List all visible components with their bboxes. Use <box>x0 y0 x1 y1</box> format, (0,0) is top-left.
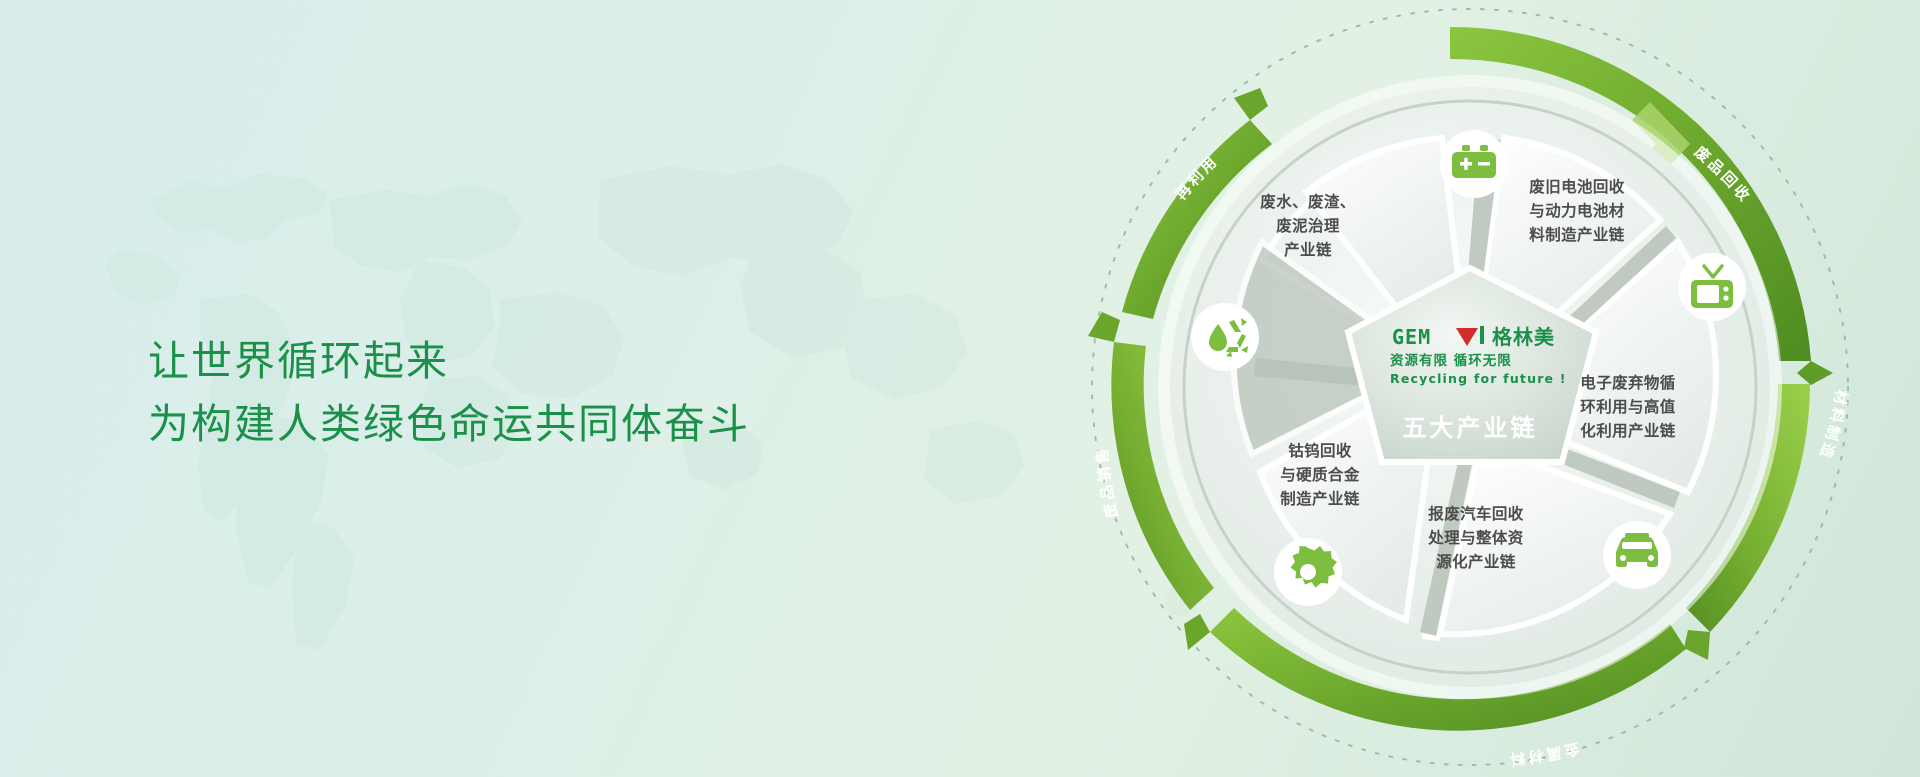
label-battery: 废旧电池回收 与动力电池材 料制造产业链 <box>1529 177 1625 244</box>
label-e-waste: 电子废弃物循 环利用与高值 化利用产业链 <box>1580 373 1676 440</box>
badge-gear[interactable] <box>1274 538 1342 606</box>
svg-text:钴钨回收: 钴钨回收 <box>1288 441 1352 460</box>
headline-line-1: 让世界循环起来 <box>148 330 928 393</box>
svg-text:制造产业链: 制造产业链 <box>1280 489 1360 508</box>
headline-block: 让世界循环起来 为构建人类绿色命运共同体奋斗 <box>148 330 928 456</box>
ring-arrow-top-left <box>1234 88 1268 120</box>
svg-text:废水、废渣、: 废水、废渣、 <box>1260 192 1355 211</box>
logo-slogan-en: Recycling for future ! <box>1390 371 1567 386</box>
svg-text:处理与整体资: 处理与整体资 <box>1427 528 1524 547</box>
svg-text:废旧电池回收: 废旧电池回收 <box>1529 177 1625 196</box>
svg-text:料制造产业链: 料制造产业链 <box>1529 225 1625 244</box>
core-label: 五大产业链 <box>1403 414 1538 442</box>
badge-battery[interactable] <box>1440 130 1508 198</box>
logo-mark: GEM <box>1392 325 1431 349</box>
svg-text:产业链: 产业链 <box>1284 240 1332 259</box>
svg-text:报废汽车回收: 报废汽车回收 <box>1428 504 1524 523</box>
svg-text:与动力电池材: 与动力电池材 <box>1529 201 1625 220</box>
svg-text:废泥治理: 废泥治理 <box>1276 216 1340 235</box>
badge-television[interactable] <box>1678 253 1746 321</box>
arc-label-material-making: 材料制造 <box>1815 388 1850 463</box>
svg-text:环利用与高值: 环利用与高值 <box>1580 397 1676 416</box>
label-scrap-car: 报废汽车回收 处理与整体资 源化产业链 <box>1427 504 1524 571</box>
diagram-svg: GEM 格林美 资源有限 循环无限 Recycling for future !… <box>1010 0 1920 777</box>
badge-recycle-drop[interactable] <box>1191 303 1259 371</box>
logo-slogan-cn: 资源有限 循环无限 <box>1390 352 1512 369</box>
arc-label-scrap-selling: 废品销售 <box>1093 445 1122 520</box>
arc-label-metal-material: 金属材料 <box>1507 739 1583 768</box>
logo-bar-icon <box>1480 326 1484 344</box>
ring-arrow-right <box>1797 361 1833 385</box>
svg-text:化利用产业链: 化利用产业链 <box>1580 421 1676 440</box>
headline-line-2: 为构建人类绿色命运共同体奋斗 <box>148 393 928 456</box>
ring-arrow-left <box>1088 312 1120 342</box>
ring-arrow-bottom-left <box>1184 614 1210 650</box>
svg-text:源化产业链: 源化产业链 <box>1436 552 1516 571</box>
svg-text:电子废弃物循: 电子废弃物循 <box>1580 373 1676 392</box>
badge-car[interactable] <box>1603 521 1671 589</box>
svg-text:与硬质合金: 与硬质合金 <box>1280 465 1360 484</box>
logo-cn-name: 格林美 <box>1492 325 1555 349</box>
five-industry-chain-diagram: GEM 格林美 资源有限 循环无限 Recycling for future !… <box>1010 0 1920 777</box>
label-cobalt-tungsten: 钴钨回收 与硬质合金 制造产业链 <box>1280 441 1360 508</box>
ring-arrow-bottom-right <box>1684 630 1710 660</box>
